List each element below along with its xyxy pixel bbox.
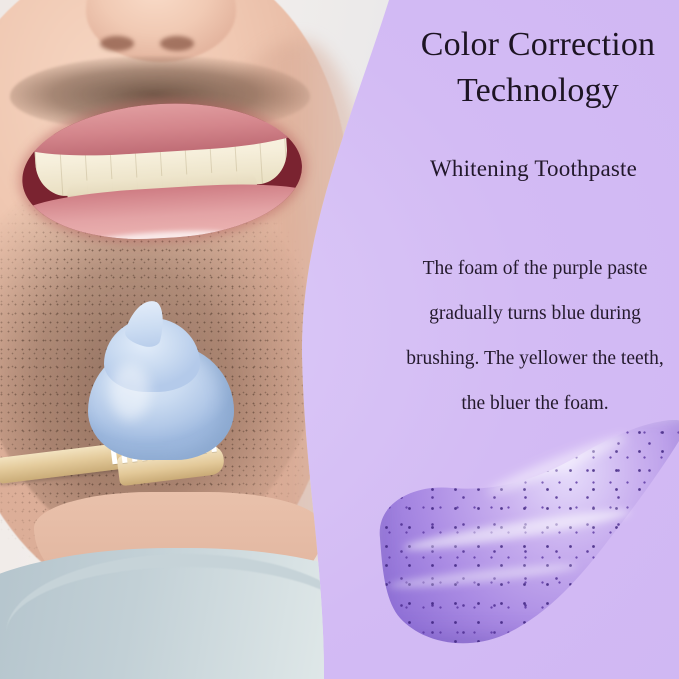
nostril-left bbox=[100, 36, 134, 51]
smiling-mouth bbox=[18, 96, 306, 247]
bamboo-toothbrush bbox=[0, 352, 260, 532]
headline-line-1: Color Correction bbox=[421, 26, 656, 63]
purple-gel-swatch bbox=[372, 418, 679, 654]
subtitle: Whitening Toothpaste bbox=[388, 156, 679, 182]
product-advertisement-image: Color Correction Technology Whitening To… bbox=[0, 0, 679, 679]
headline: Color Correction Technology bbox=[388, 22, 679, 114]
headline-line-2: Technology bbox=[388, 68, 679, 114]
body-copy: The foam of the purple paste gradually t… bbox=[402, 246, 668, 426]
gel-edge-sheen bbox=[372, 418, 679, 654]
nostril-right bbox=[160, 36, 194, 51]
foam-highlight bbox=[110, 364, 150, 420]
